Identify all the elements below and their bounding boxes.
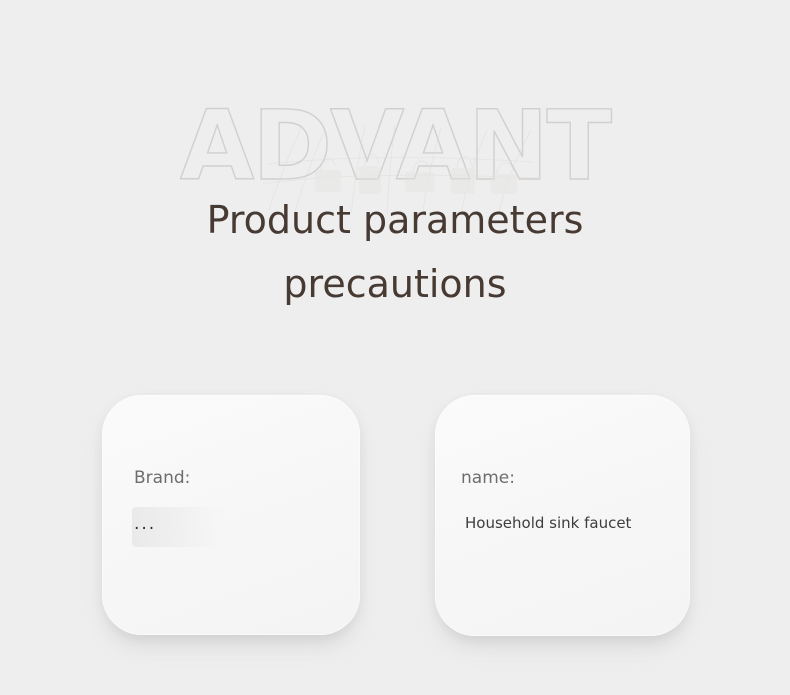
parameter-card-list: Brand: ... name: Household sink faucet: [0, 395, 790, 645]
page-title: Product parameters precautions: [0, 188, 790, 316]
product-parameters-page: ADVANT: [0, 0, 790, 695]
parameter-label-name: name:: [461, 467, 515, 489]
parameter-value-brand: ...: [134, 515, 156, 534]
parameter-value-name: Household sink faucet: [465, 514, 655, 533]
parameter-card-name: name: Household sink faucet: [435, 395, 690, 636]
page-title-line-1: Product parameters: [0, 188, 790, 252]
brand-watermark-text: ADVANT: [0, 96, 790, 196]
parameter-card-brand: Brand: ...: [102, 395, 360, 635]
parameter-card-name-body: name: Household sink faucet: [435, 395, 690, 636]
parameter-card-brand-body: Brand: ...: [102, 395, 360, 635]
parameter-label-brand: Brand:: [134, 467, 190, 489]
page-title-line-2: precautions: [0, 252, 790, 316]
